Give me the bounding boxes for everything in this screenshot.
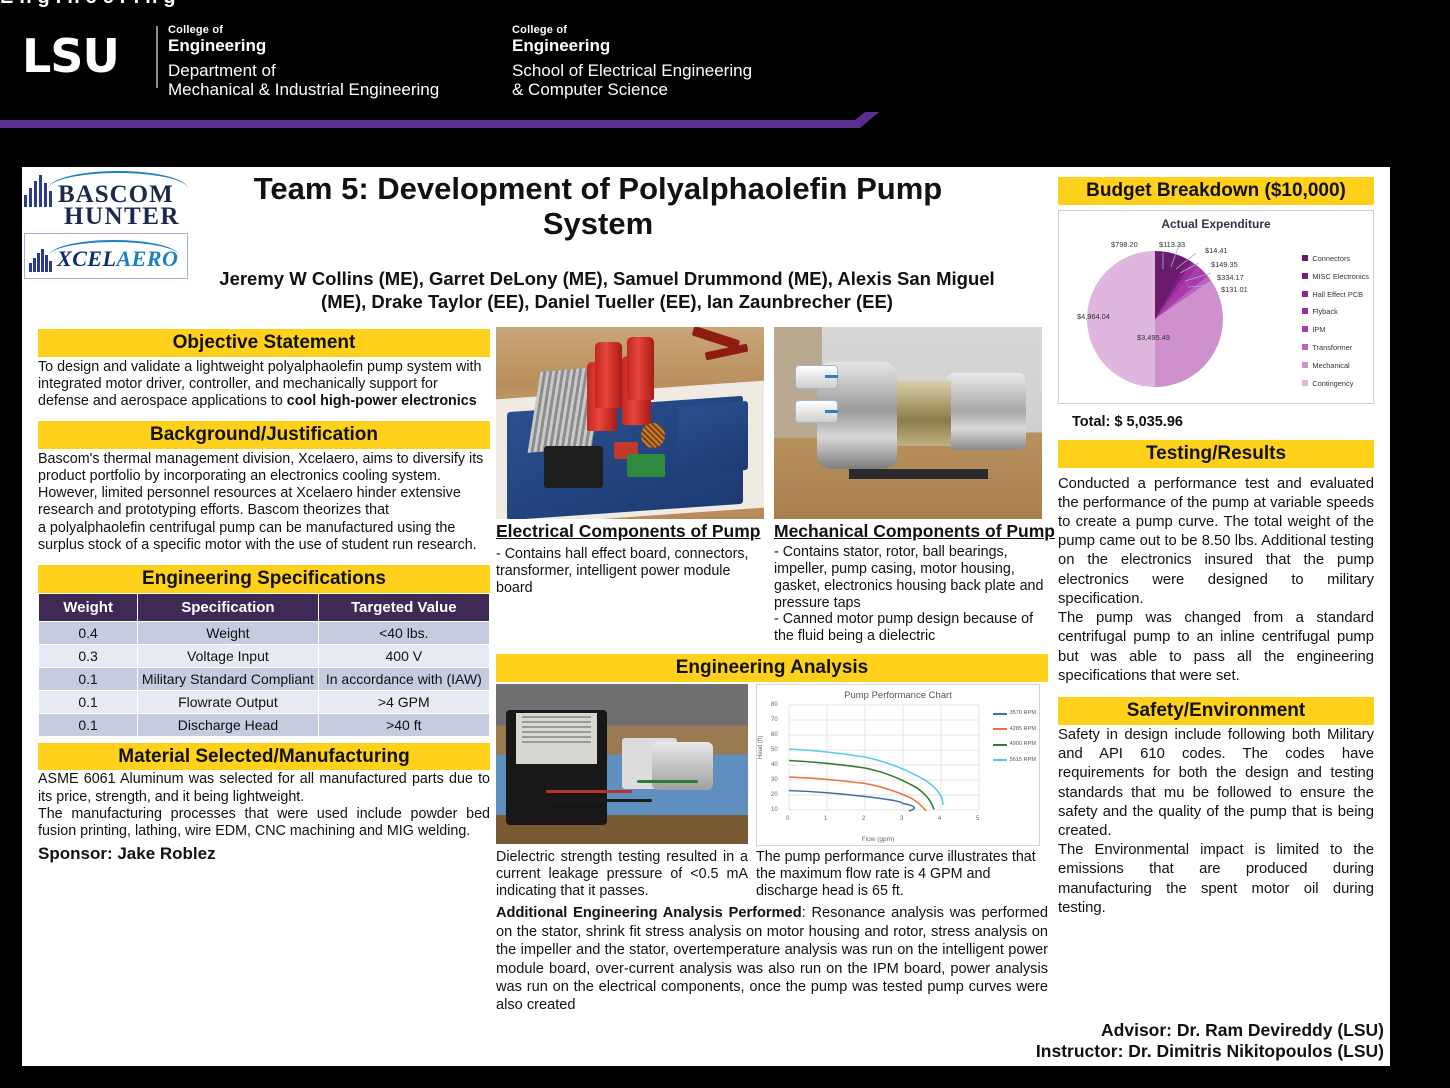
legend-item: Mechanical (1302, 362, 1369, 369)
specifications-heading: Engineering Specifications (38, 565, 490, 593)
material-paragraph-1: ASME 6061 Aluminum was selected for all … (38, 771, 490, 805)
electrical-photo-caption: Electrical Components of Pump (496, 521, 764, 542)
poster-sheet: BASCOM HUNTER XCELAERO Team 5: Developme… (22, 167, 1390, 1066)
table-row: 0.1 Military Standard Compliant In accor… (39, 667, 490, 690)
specifications-table: Weight Specification Targeted Value 0.4 … (38, 593, 490, 737)
sponsor-line: Sponsor: Jake Roblez (38, 844, 490, 864)
table-row: 0.4 Weight <40 lbs. (39, 621, 490, 644)
cell-spec: Weight (138, 621, 318, 644)
pie-value-connectors: $798.20 (1111, 240, 1138, 249)
pump-chart-legend: 3570 RPM 4285 RPM 4900 RPM 5615 RPM (993, 711, 1036, 773)
column-header-weight: Weight (39, 593, 138, 621)
safety-paragraph-2: The Environmental impact is limited to t… (1058, 841, 1374, 918)
pump-curve-caption: The pump performance curve illustrates t… (756, 849, 1038, 900)
pie-value-transformer: $131.01 (1221, 285, 1248, 294)
electrical-photo-body: - Contains hall effect board, connectors… (496, 546, 764, 597)
cell-weight: 0.1 (39, 667, 138, 690)
instructor-credit: Instructor: Dr. Dimitris Nikitopoulos (L… (1036, 1041, 1384, 1062)
legend-item: Hall Effect PCB (1302, 291, 1369, 298)
middle-column: Electrical Components of Pump - Contains… (496, 327, 1048, 1015)
pie-value-contingency: $4,964.04 (1077, 312, 1110, 321)
table-row: 0.1 Flowrate Output >4 GPM (39, 690, 490, 713)
pump-performance-chart: Pump Performance Chart Head (ft) Flow (g… (756, 684, 1040, 846)
cell-target: >4 GPM (318, 690, 489, 713)
mechanical-photo-body-2: - Canned motor pump design because of th… (774, 611, 1046, 645)
cell-weight: 0.1 (39, 690, 138, 713)
legend-item: Flyback (1302, 308, 1369, 315)
background-heading: Background/Justification (38, 421, 490, 449)
dielectric-test-photo (496, 684, 748, 844)
cell-weight: 0.1 (39, 713, 138, 736)
cell-target: <40 lbs. (318, 621, 489, 644)
table-header-row: Weight Specification Targeted Value (39, 593, 490, 621)
pie-value-mechanical: $3,495.49 (1137, 333, 1170, 342)
right-column: Budget Breakdown ($10,000) Actual Expend… (1058, 177, 1374, 918)
legend-item: 3570 RPM (993, 711, 1036, 717)
analysis-heading: Engineering Analysis (496, 654, 1048, 682)
cell-target: >40 ft (318, 713, 489, 736)
electrical-components-photo (496, 327, 764, 519)
testing-paragraph-1: Conducted a performance test and evaluat… (1058, 475, 1374, 610)
safety-heading: Safety/Environment (1058, 697, 1374, 725)
dielectric-caption: Dielectric strength testing resulted in … (496, 849, 748, 900)
column-header-targeted-value: Targeted Value (318, 593, 489, 621)
legend-item: Contingency (1302, 380, 1369, 387)
safety-paragraph-1: Safety in design include following both … (1058, 726, 1374, 841)
objective-body: To design and validate a lightweight pol… (38, 359, 490, 410)
objective-heading: Objective Statement (38, 329, 490, 357)
cell-spec: Discharge Head (138, 713, 318, 736)
budget-total: Total: $ 5,035.96 (1058, 414, 1374, 430)
xcelaero-logo: XCELAERO (24, 233, 188, 279)
header-college-mie: College of Engineering Department of Mec… (168, 24, 439, 99)
column-header-specification: Specification (138, 593, 318, 621)
legend-item: 4285 RPM (993, 727, 1036, 733)
objective-bold-phrase: cool high-power electronics (287, 393, 477, 409)
bascom-bars-icon (24, 173, 54, 207)
poster-title: Team 5: Development of Polyalphaolefin P… (202, 171, 994, 242)
pie-value-misc: $113.33 (1159, 240, 1185, 249)
sponsor-logos: BASCOM HUNTER XCELAERO (22, 167, 190, 281)
additional-analysis-paragraph: Additional Engineering Analysis Performe… (496, 904, 1048, 1014)
header-divider (156, 26, 158, 88)
lsu-wordmark-logo: LSU (22, 30, 144, 82)
poster-authors: Jeremy W Collins (ME), Garret DeLony (ME… (202, 267, 1012, 313)
cell-spec: Voltage Input (138, 644, 318, 667)
legend-item: Connectors (1302, 255, 1369, 262)
legend-item: Transformer (1302, 344, 1369, 351)
header-college-eecs: College of Engineering School of Electri… (512, 24, 752, 99)
mechanical-photo-caption: Mechanical Components of Pump (774, 521, 1046, 542)
pie-value-flyback: $149.35 (1211, 260, 1238, 269)
cell-spec: Military Standard Compliant (138, 667, 318, 690)
cell-target: 400 V (318, 644, 489, 667)
component-photos (496, 327, 1048, 519)
xcelaero-bars-icon (29, 248, 55, 272)
purple-stripe-graphic (0, 112, 1450, 134)
bascom-hunter-logo: BASCOM HUNTER (22, 167, 190, 227)
budget-heading: Budget Breakdown ($10,000) (1058, 177, 1374, 205)
pie-value-ipm: $334.17 (1217, 273, 1244, 282)
material-heading: Material Selected/Manufacturing (38, 743, 490, 771)
legend-item: 5615 RPM (993, 758, 1036, 764)
pie-chart-title: Actual Expenditure (1059, 211, 1373, 231)
pie-legend: Connectors MISC Electronics Hall Effect … (1302, 255, 1369, 398)
table-row: 0.1 Discharge Head >40 ft (39, 713, 490, 736)
table-row: 0.3 Voltage Input 400 V (39, 644, 490, 667)
lsu-header-band: Engineering LSU College of Engineering D… (0, 0, 1450, 150)
cell-weight: 0.3 (39, 644, 138, 667)
cell-weight: 0.4 (39, 621, 138, 644)
advisor-credit: Advisor: Dr. Ram Devireddy (LSU) (1101, 1020, 1384, 1040)
mechanical-photo-body-1: - Contains stator, rotor, ball bearings,… (774, 544, 1046, 611)
poster-canvas: Engineering LSU College of Engineering D… (0, 0, 1450, 1088)
legend-item: 4900 RPM (993, 742, 1036, 748)
cell-target: In accordance with (IAW) (318, 667, 489, 690)
background-paragraph-1: Bascom's thermal management division, Xc… (38, 451, 490, 520)
budget-pie-chart: Actual Expenditure $798.20 $113.33 $14.4… (1058, 210, 1374, 404)
background-paragraph-2: a polyalphaolefin centrifugal pump can b… (38, 520, 490, 554)
legend-item: MISC Electronics (1302, 273, 1369, 280)
legend-item: IPM (1302, 326, 1369, 333)
mechanical-components-photo (774, 327, 1042, 519)
left-column: Objective Statement To design and valida… (38, 329, 490, 864)
cutoff-header-text: Engineering (0, 0, 700, 8)
cell-spec: Flowrate Output (138, 690, 318, 713)
additional-analysis-label: Additional Engineering Analysis Performe… (496, 905, 802, 921)
testing-heading: Testing/Results (1058, 440, 1374, 468)
testing-paragraph-2: The pump was changed from a standard cen… (1058, 609, 1374, 686)
xcelaero-wordmark: XCELAERO (57, 246, 178, 272)
pie-value-hall: $14.41 (1205, 246, 1228, 255)
material-paragraph-2: The manufacturing processes that were us… (38, 806, 490, 840)
